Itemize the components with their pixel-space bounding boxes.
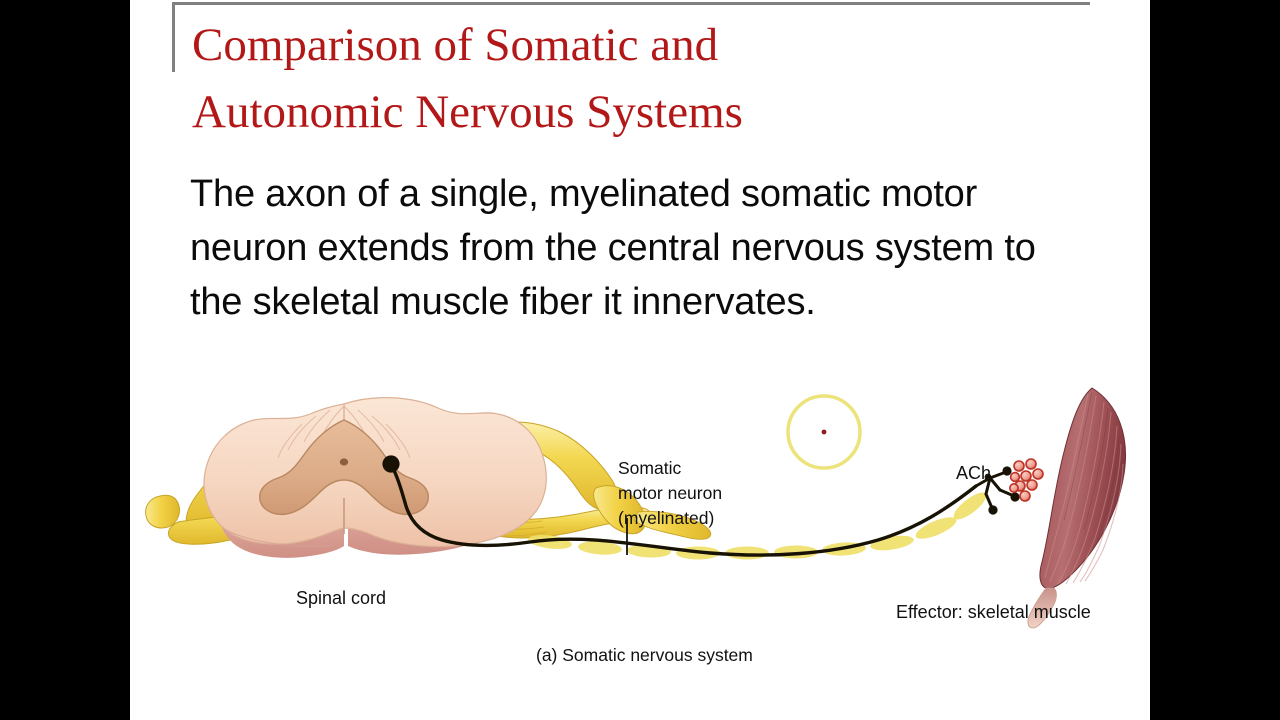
slide: Comparison of Somatic and Autonomic Nerv… (130, 0, 1150, 720)
somatic-nervous-system-figure: Somatic motor neuron (myelinated) ACh Sp… (130, 370, 1150, 690)
figure-panel-caption: (a) Somatic nervous system (536, 645, 753, 666)
magnifier-inset-circle (788, 396, 860, 468)
label-effector-skeletal-muscle: Effector: skeletal muscle (896, 602, 1091, 623)
screenshot-root: Comparison of Somatic and Autonomic Nerv… (0, 0, 1280, 720)
letterbox-bar-right (1150, 0, 1280, 720)
motor-neuron-cell-body (382, 455, 399, 472)
effector-skeletal-muscle (1028, 388, 1126, 628)
page-title: Comparison of Somatic and Autonomic Nerv… (192, 12, 1092, 145)
title-rule-top (172, 2, 1090, 5)
body-paragraph: The axon of a single, myelinated somatic… (190, 168, 1080, 330)
title-rule-left (172, 2, 175, 72)
label-spinal-cord: Spinal cord (296, 588, 386, 609)
spinal-cord-cross-section (204, 398, 546, 558)
label-somatic-motor-neuron: Somatic motor neuron (myelinated) (618, 456, 722, 531)
letterbox-bar-left (0, 0, 130, 720)
label-ach: ACh (956, 463, 991, 484)
